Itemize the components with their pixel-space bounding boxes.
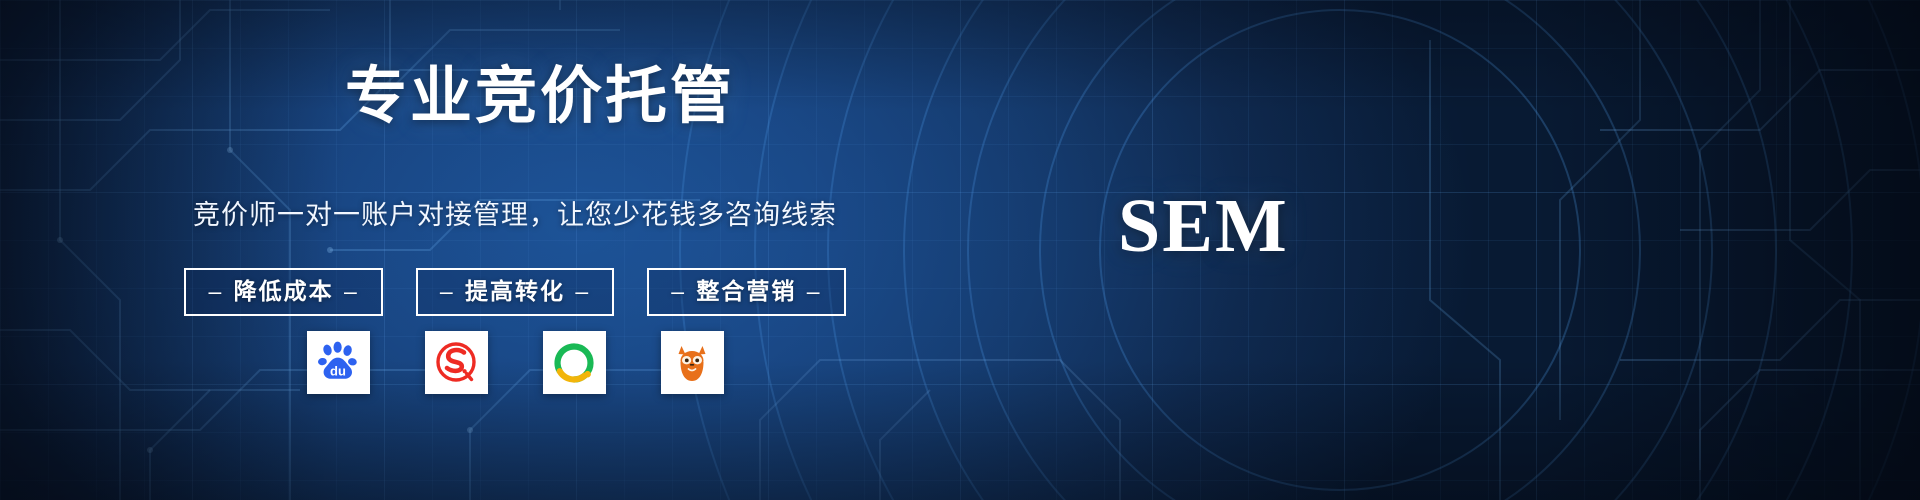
banner-content: 专业竞价托管 竞价师一对一账户对接管理，让您少花钱多咨询线索 – 降低成本 – … [0, 0, 1120, 500]
banner-title: 专业竞价托管 [0, 62, 1080, 132]
badge-dash-left: – [206, 278, 225, 304]
sem-promo-banner: 专业竞价托管 竞价师一对一账户对接管理，让您少花钱多咨询线索 – 降低成本 – … [0, 0, 1920, 500]
feature-badge-cost-reduction[interactable]: – 降低成本 – [184, 268, 382, 316]
badge-dash-left: – [669, 278, 688, 304]
badge-label: 提高转化 [465, 278, 565, 304]
banner-subtitle: 竞价师一对一账户对接管理，让您少花钱多咨询线索 [0, 198, 1030, 232]
badge-dash-right: – [573, 278, 592, 304]
svg-text:du: du [330, 363, 346, 378]
platform-logo-baidu[interactable]: du [307, 331, 370, 394]
platform-logo-360[interactable] [543, 331, 606, 394]
threesixty-icon [551, 340, 597, 386]
platform-logo-sogou[interactable] [425, 331, 488, 394]
sogou-icon [433, 340, 479, 386]
feature-badge-conversion[interactable]: – 提高转化 – [416, 268, 614, 316]
sem-wordmark: SEM [1118, 186, 1289, 266]
badge-dash-left: – [438, 278, 457, 304]
badge-dash-right: – [342, 278, 361, 304]
platform-logo-list: du [0, 331, 1030, 394]
badge-dash-right: – [805, 278, 824, 304]
badge-label: 降低成本 [234, 278, 334, 304]
badge-label: 整合营销 [696, 278, 796, 304]
feature-badge-list: – 降低成本 – – 提高转化 – – 整合营销 – [0, 268, 1030, 316]
baidu-icon: du [315, 340, 361, 386]
shenma-icon [669, 340, 715, 386]
platform-logo-shenma[interactable] [661, 331, 724, 394]
feature-badge-integrated-marketing[interactable]: – 整合营销 – [647, 268, 845, 316]
